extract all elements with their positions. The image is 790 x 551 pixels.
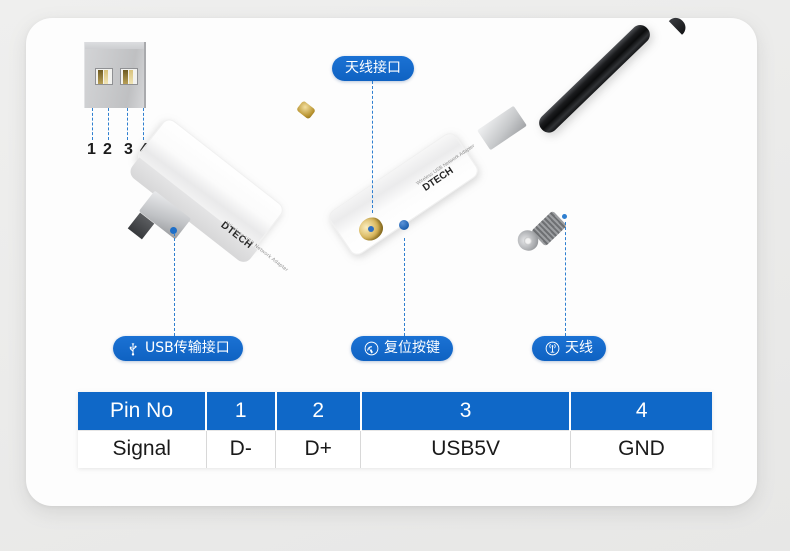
tap-icon: [364, 341, 379, 356]
table-cell-signal-2: D+: [276, 430, 361, 468]
table-header-pin-1: 1: [206, 392, 276, 430]
callout-antenna-port-leader: [372, 81, 373, 213]
adapter2-reset-button[interactable]: [399, 220, 409, 230]
usb-contact-pair-left: [95, 68, 113, 85]
table-header-pin-4: 4: [570, 392, 712, 430]
callout-reset-button[interactable]: 复位按键: [351, 336, 453, 361]
callout-reset-button-label: 复位按键: [384, 341, 440, 355]
callout-antenna-leader: [565, 222, 566, 336]
callout-antenna-port[interactable]: 天线接口: [332, 56, 414, 81]
table-cell-signal-label: Signal: [78, 430, 206, 468]
usb-contact-pair-right: [120, 68, 138, 85]
antenna-callout-anchor-dot: [562, 214, 567, 219]
callout-usb-port[interactable]: USB传输接口: [113, 336, 243, 361]
usb-a-plug-shell: [84, 42, 146, 108]
table-cell-signal-4: GND: [570, 430, 712, 468]
product-infographic: 1 2 3 4 DTECH Wireless USB Network Adapt…: [0, 0, 790, 551]
product-image-adapter-usb-side: DTECH Wireless USB Network Adapter: [140, 98, 320, 263]
pin-number-2: 2: [103, 141, 113, 159]
usb-icon: [126, 342, 140, 356]
callout-antenna[interactable]: 天线: [532, 336, 606, 361]
pin-assignment-table: Pin No 1 2 3 4 Signal D- D+ USB5V GND: [78, 392, 712, 468]
pin-number-3: 3: [124, 141, 134, 159]
callout-antenna-port-label: 天线接口: [345, 61, 401, 75]
table-cell-signal-3: USB5V: [361, 430, 571, 468]
pin-leader-2: [108, 108, 109, 140]
adapter-sma-connector: [296, 100, 316, 119]
callout-reset-leader: [404, 238, 405, 336]
pin-leader-1: [92, 108, 93, 140]
pin-number-1: 1: [87, 141, 97, 159]
table-header-row: Pin No 1 2 3 4: [78, 392, 712, 430]
table-cell-signal-1: D-: [206, 430, 276, 468]
table-row: Signal D- D+ USB5V GND: [78, 430, 712, 468]
table-header-pin-no: Pin No: [78, 392, 206, 430]
table-header-pin-3: 3: [361, 392, 571, 430]
callout-usb-port-label: USB传输接口: [145, 341, 230, 355]
adapter2-usb-plug: [477, 106, 527, 151]
antenna-sma-center: [524, 237, 532, 245]
callout-usb-leader: [174, 233, 175, 336]
adapter2-sma-center-pin: [368, 226, 374, 232]
table-header-pin-2: 2: [276, 392, 361, 430]
product-image-external-antenna: [528, 100, 688, 260]
pin-leader-3: [127, 108, 128, 140]
signal-icon: [545, 341, 560, 356]
callout-antenna-label: 天线: [565, 341, 593, 355]
